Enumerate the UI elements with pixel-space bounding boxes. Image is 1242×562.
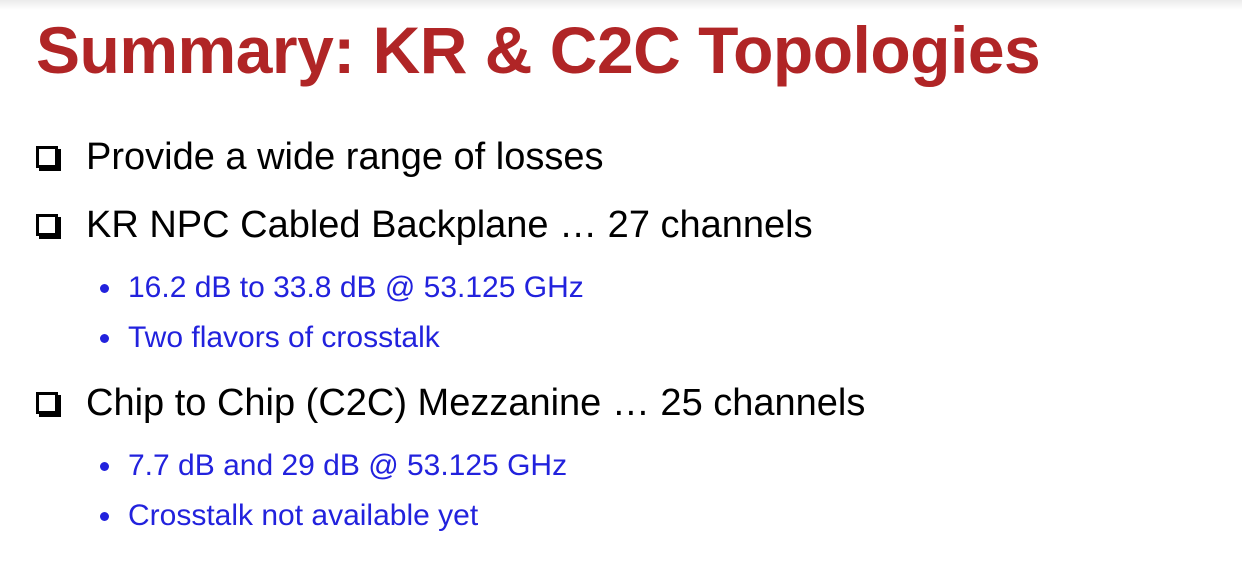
box-bullet-icon: [36, 214, 58, 236]
dot-bullet-icon: [100, 512, 109, 521]
list-item-label: KR NPC Cabled Backplane … 27 channels: [86, 198, 813, 252]
sub-list-item: Crosstalk not available yet: [0, 494, 1242, 538]
sub-list-item-label: Crosstalk not available yet: [128, 494, 478, 538]
sub-list-item: 16.2 dB to 33.8 dB @ 53.125 GHz: [0, 266, 1242, 310]
list-item-label: Chip to Chip (C2C) Mezzanine … 25 channe…: [86, 376, 865, 430]
dot-bullet-icon: [100, 334, 109, 343]
sub-list-item-label: Two flavors of crosstalk: [128, 316, 440, 360]
list-item: KR NPC Cabled Backplane … 27 channels: [0, 198, 1242, 254]
slide-canvas: Summary: KR & C2C Topologies Provide a w…: [0, 0, 1242, 562]
sub-list-item: Two flavors of crosstalk: [0, 316, 1242, 360]
bullet-list: Provide a wide range of losses KR NPC Ca…: [0, 130, 1242, 544]
list-item-label: Provide a wide range of losses: [86, 130, 604, 184]
dot-bullet-icon: [100, 462, 109, 471]
box-bullet-icon: [36, 392, 58, 414]
list-item: Chip to Chip (C2C) Mezzanine … 25 channe…: [0, 376, 1242, 432]
dot-bullet-icon: [100, 284, 109, 293]
sub-list-item-label: 16.2 dB to 33.8 dB @ 53.125 GHz: [128, 266, 584, 310]
sub-list-item: 7.7 dB and 29 dB @ 53.125 GHz: [0, 444, 1242, 488]
group-spacer: [0, 366, 1242, 376]
page-title: Summary: KR & C2C Topologies: [36, 8, 1216, 92]
box-bullet-icon: [36, 146, 58, 168]
list-item: Provide a wide range of losses: [0, 130, 1242, 186]
sub-list-item-label: 7.7 dB and 29 dB @ 53.125 GHz: [128, 444, 567, 488]
